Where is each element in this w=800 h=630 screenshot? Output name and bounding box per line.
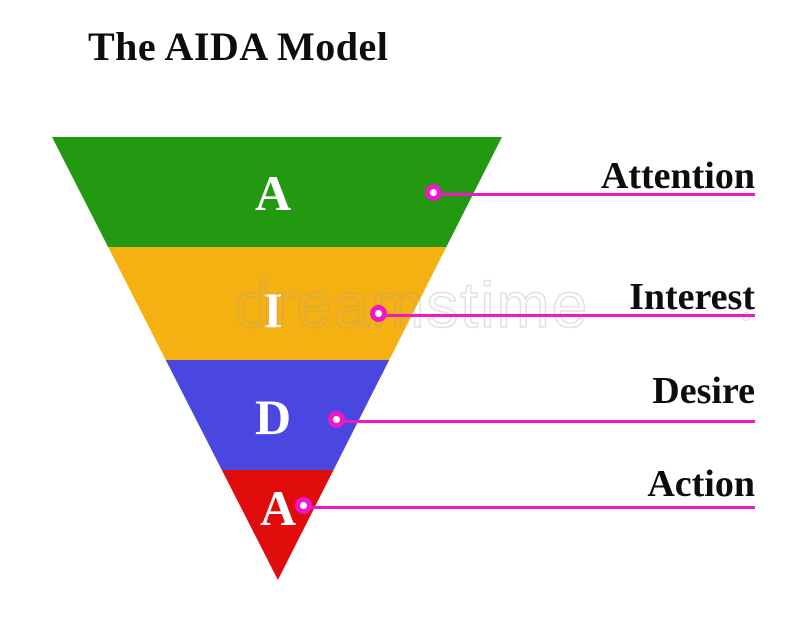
stage-label-action: Action	[647, 462, 755, 506]
page-title: The AIDA Model	[88, 22, 388, 72]
funnel-letter-attention: A	[243, 168, 303, 218]
connector-line-action	[310, 506, 755, 509]
stage-label-desire: Desire	[652, 369, 755, 413]
marker-dot-interest	[370, 305, 387, 322]
marker-dot-desire	[328, 411, 345, 428]
stage-label-attention: Attention	[601, 154, 755, 198]
funnel-letter-interest: I	[243, 285, 303, 335]
connector-line-desire	[343, 420, 755, 423]
funnel-letter-desire: D	[243, 392, 303, 442]
stage-label-interest: Interest	[629, 275, 755, 319]
marker-dot-action	[295, 497, 312, 514]
aida-model-diagram: The AIDA Model A I D A dreamstime Attent…	[0, 0, 800, 630]
marker-dot-attention	[425, 184, 442, 201]
